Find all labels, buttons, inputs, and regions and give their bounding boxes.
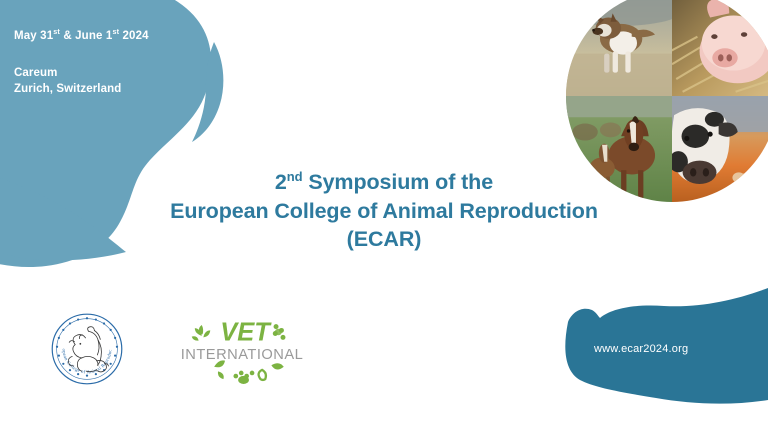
- title-line-3: (ECAR): [0, 225, 768, 254]
- crescent-sliver: [192, 42, 223, 142]
- event-date-suffix: 2024: [119, 30, 149, 42]
- conference-poster: May 31st & June 1st 2024 Careum Zurich, …: [0, 0, 768, 432]
- vet-logo-line2: INTERNATIONAL: [181, 347, 303, 363]
- website-url[interactable]: www.ecar2024.org: [594, 343, 688, 355]
- title-line-1: 2nd Symposium of the: [0, 168, 768, 197]
- event-date-prefix: May 31: [14, 30, 53, 42]
- event-info-block: May 31st & June 1st 2024 Careum Zurich, …: [14, 30, 149, 97]
- title-ordinal-suffix: nd: [287, 169, 303, 184]
- title-line-2: European College of Animal Reproduction: [0, 197, 768, 226]
- collie-dog-running-photo: [566, 0, 672, 96]
- piglet-photo: [672, 0, 768, 96]
- ecar-seal-logo: European College of Animal Reproduction: [50, 312, 124, 386]
- title-ordinal-number: 2: [275, 170, 287, 194]
- vet-international-logo: VET INTERNATIONAL: [180, 308, 304, 390]
- page-title: 2nd Symposium of the European College of…: [0, 168, 768, 254]
- title-line-1-rest: Symposium of the: [302, 170, 493, 194]
- venue-location: Zurich, Switzerland: [14, 81, 149, 97]
- event-date-ordinal-1: st: [53, 27, 60, 36]
- vet-logo-line1: VET: [220, 318, 272, 346]
- event-date-middle: & June 1: [60, 30, 112, 42]
- venue-name: Careum: [14, 65, 149, 81]
- venue-block: Careum Zurich, Switzerland: [14, 65, 149, 98]
- event-date: May 31st & June 1st 2024: [14, 30, 149, 44]
